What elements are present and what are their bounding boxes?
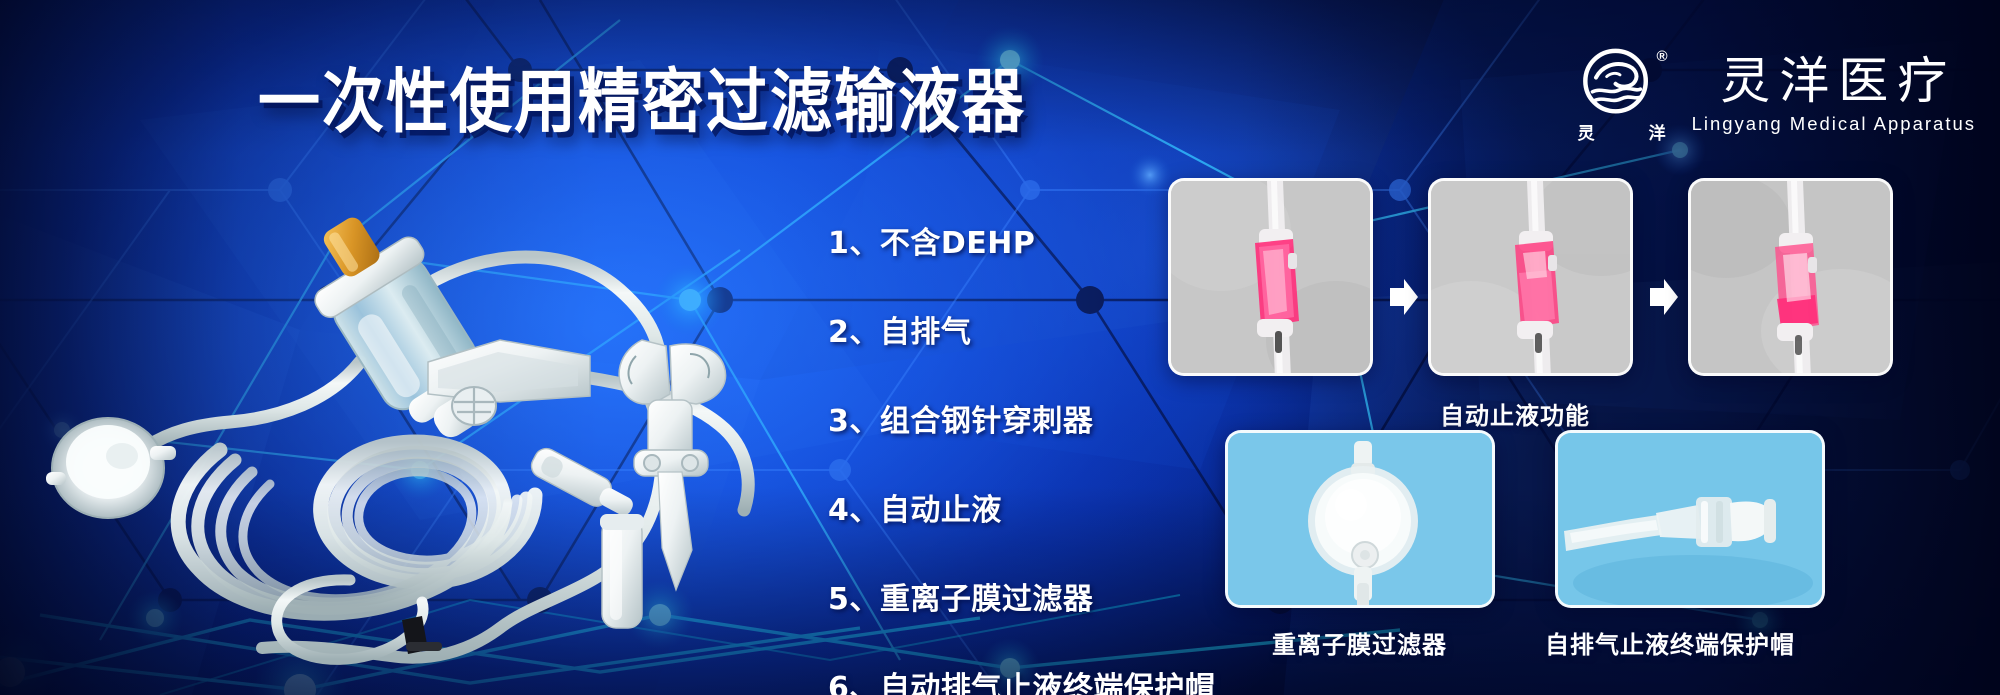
feature-item-3: 3、组合钢针穿刺器 [828, 396, 1215, 440]
filter-photo-panel [1225, 430, 1495, 608]
auto-stop-photo-step-1 [1168, 178, 1373, 376]
company-name-cn: 灵洋医疗 [1711, 54, 1956, 108]
feature-item-1: 1、不含DEHP [828, 218, 1215, 262]
tube-clamp-part [402, 616, 442, 654]
caption-protector-cap: 自排气止液终端保护帽 [1545, 625, 1795, 660]
membrane-filter-part [46, 418, 176, 518]
feature-item-4: 4、自动止液 [828, 485, 1215, 529]
logo-text-block: 灵洋医疗 Lingyang Medical Apparatus [1692, 54, 1976, 135]
auto-stop-photo-step-2 [1428, 178, 1633, 376]
product-photo-infusion-set [30, 150, 860, 680]
logo-char-left: 灵 [1578, 119, 1595, 144]
promo-banner: 一次性使用精密过滤输液器 ® 灵 洋 灵洋医疗 Lingyang Medical… [0, 0, 2000, 695]
feature-item-2: 2、自排气 [828, 307, 1215, 351]
protector-cap-photo-panel [1555, 430, 1825, 608]
logo-char-right: 洋 [1649, 119, 1666, 144]
arrow-right-icon-2 [1648, 277, 1680, 317]
auto-stop-photo-step-3 [1688, 178, 1893, 376]
feature-item-6: 6、自动排气止液终端保护帽 [828, 663, 1215, 695]
registered-trademark-icon: ® [1657, 48, 1668, 65]
wave-circle-icon [1580, 46, 1660, 118]
protector-cap-part [600, 514, 644, 628]
caption-auto-stop: 自动止液功能 [1440, 396, 1590, 431]
company-logo: ® 灵 洋 灵洋医疗 Lingyang Medical Apparatus [1578, 44, 1976, 144]
y-connector-part [527, 444, 638, 522]
arrow-right-icon [1388, 277, 1420, 317]
logo-mark: ® 灵 洋 [1578, 44, 1666, 144]
company-name-en: Lingyang Medical Apparatus [1692, 113, 1976, 135]
feature-item-5: 5、重离子膜过滤器 [828, 574, 1215, 618]
page-title: 一次性使用精密过滤输液器 [258, 45, 1026, 146]
caption-filter: 重离子膜过滤器 [1272, 625, 1447, 660]
feature-list: 1、不含DEHP 2、自排气 3、组合钢针穿刺器 4、自动止液 5、重离子膜过滤… [828, 218, 1215, 695]
